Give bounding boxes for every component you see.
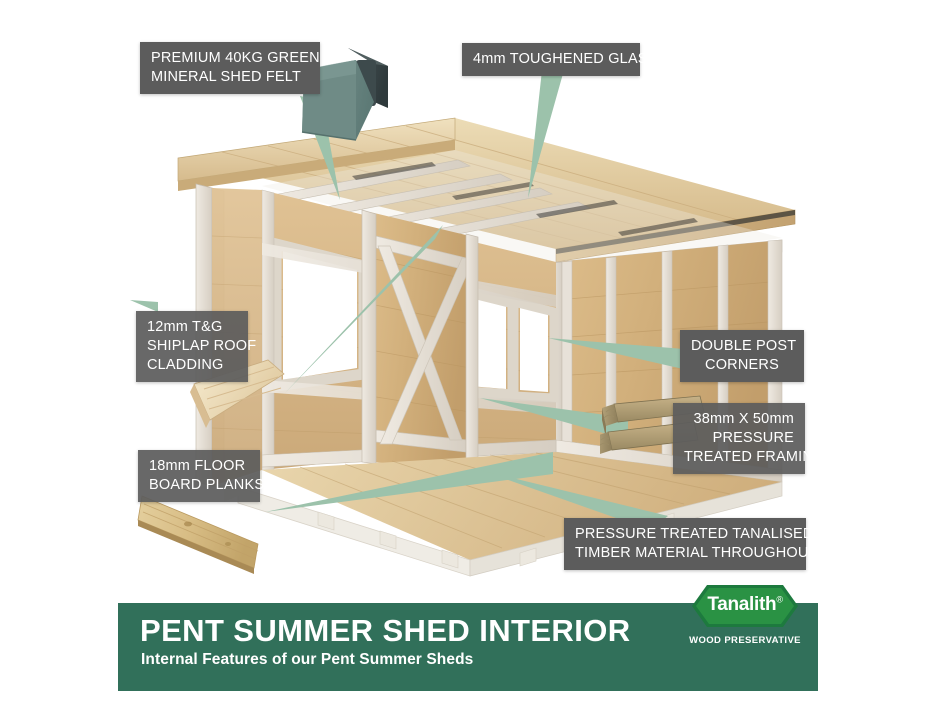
tanalith-logo: Tanalith® WOOD PRESERVATIVE <box>686 584 804 662</box>
callout-line: PRESSURE <box>684 429 794 448</box>
callout-line: PREMIUM 40KG GREEN <box>151 49 309 68</box>
leader-cladding <box>285 225 445 395</box>
callout-double-post-corners: DOUBLE POST CORNERS <box>680 330 804 382</box>
registered-mark: ® <box>776 595 782 605</box>
callout-mineral-shed-felt: PREMIUM 40KG GREEN MINERAL SHED FELT <box>140 42 320 94</box>
callout-pressure-treated-framing: 38mm X 50mm PRESSURE TREATED FRAMING <box>673 403 805 474</box>
callout-floor-board-planks: 18mm FLOOR BOARD PLANKS <box>138 450 260 502</box>
tanalith-badge: Tanalith® <box>691 584 799 628</box>
callout-pressure-treated-tanalised: PRESSURE TREATED TANALISED TIMBER MATERI… <box>564 518 806 570</box>
product-feature-graphic: PREMIUM 40KG GREEN MINERAL SHED FELT 4mm… <box>0 0 940 705</box>
callout-line: MINERAL SHED FELT <box>151 68 309 87</box>
callout-line: CORNERS <box>691 356 793 375</box>
tanalith-name: Tanalith <box>707 594 776 615</box>
callout-line: PRESSURE TREATED TANALISED <box>575 525 795 544</box>
callout-line: SHIPLAP ROOF <box>147 337 237 356</box>
page-subtitle: Internal Features of our Pent Summer She… <box>141 651 473 669</box>
callout-line: CLADDING <box>147 356 237 375</box>
callout-line: TREATED FRAMING <box>684 448 794 467</box>
tanalith-wordmark: Tanalith® <box>691 594 799 616</box>
callout-shiplap-roof-cladding: 12mm T&G SHIPLAP ROOF CLADDING <box>136 311 248 382</box>
callout-toughened-glass: 4mm TOUGHENED GLASS <box>462 43 640 76</box>
callout-line: BOARD PLANKS <box>149 476 249 495</box>
tanalith-tagline: WOOD PRESERVATIVE <box>686 635 804 646</box>
leader-glass <box>520 70 580 200</box>
callout-line: DOUBLE POST <box>691 337 793 356</box>
callout-line: 18mm FLOOR <box>149 457 249 476</box>
callout-line: TIMBER MATERIAL THROUGHOUT. <box>575 544 795 563</box>
page-title: PENT SUMMER SHED INTERIOR <box>140 613 631 649</box>
leader-corners <box>548 338 698 388</box>
callout-line: 38mm X 50mm <box>684 410 794 429</box>
callout-line: 4mm TOUGHENED GLASS <box>473 50 629 69</box>
callout-line: 12mm T&G <box>147 318 237 337</box>
